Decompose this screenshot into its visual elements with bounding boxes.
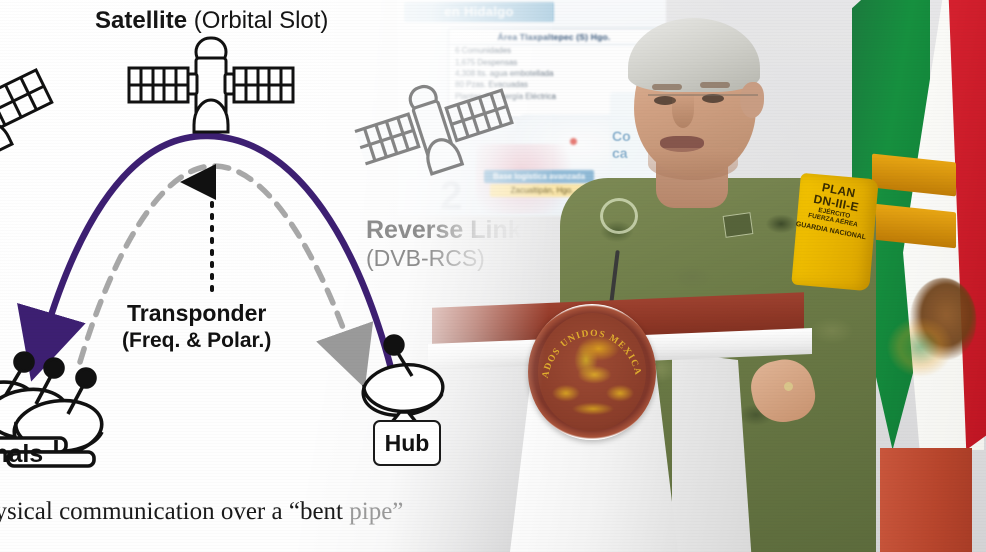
ear [740, 82, 764, 118]
satellite-diagram-graphics [0, 0, 552, 552]
satellite-title-bold: Satellite [95, 7, 187, 34]
shoulder-patch-icon [600, 198, 638, 234]
transponder-line-2: (Freq. & Polar.) [122, 328, 271, 353]
eyebrow [700, 82, 730, 88]
reverse-link-line-2: (DVB-RCS) [366, 245, 522, 271]
flag-lower-red-panel [880, 448, 972, 552]
hub-box: Hub [373, 420, 441, 466]
hub-label: Hub [385, 430, 430, 457]
reverse-link-line-1: Reverse Link [366, 216, 522, 245]
satellite-title: Satellite (Orbital Slot) [95, 7, 328, 35]
satellite-icon [346, 64, 519, 193]
hair [628, 18, 760, 92]
diagram-caption: hysical communication over a “bent pipe” [0, 498, 403, 526]
satellite-dish-icon [360, 336, 445, 422]
nose [672, 92, 694, 128]
satellite-icon [129, 38, 293, 132]
chin [648, 148, 738, 180]
caption-faded: pipe” [349, 498, 403, 525]
reverse-link-label: Reverse Link (DVB-RCS) [366, 216, 522, 271]
seal-text: ESTADOS UNIDOS MEXICANOS [538, 313, 643, 379]
eyeglasses [648, 94, 758, 96]
satellite-title-regular: (Orbital Slot) [187, 7, 328, 34]
seal-ring-text: ESTADOS UNIDOS MEXICANOS [538, 313, 646, 431]
chest-name-tape [723, 212, 754, 238]
ring [784, 382, 793, 391]
caption-main: hysical communication over a “bent [0, 498, 349, 525]
eyebrow [652, 84, 682, 90]
flag-wreath [888, 318, 952, 376]
transponder-line-1: Transponder [122, 300, 271, 328]
satellite-icon [0, 70, 61, 158]
terminals-label: minals [0, 440, 43, 469]
transponder-label: Transponder (Freq. & Polar.) [122, 300, 271, 353]
screenshot-root: en Hidalgo Área Tlaxpaltepec (S) Hgo. 6 … [0, 0, 986, 552]
